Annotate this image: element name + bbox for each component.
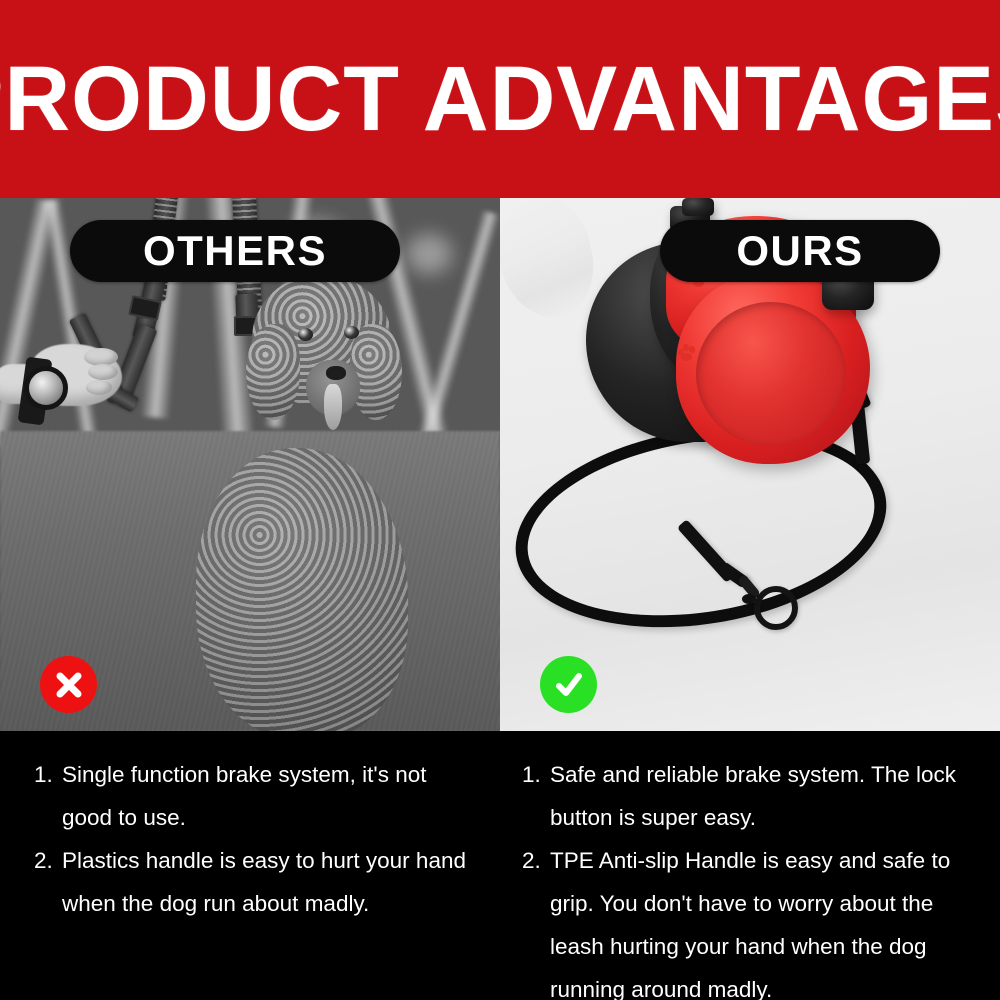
list-item: 1. Single function brake system, it's no… (34, 753, 482, 839)
panel-others: OTHERS (0, 198, 500, 731)
list-item: 2. TPE Anti-slip Handle is easy and safe… (522, 839, 986, 1000)
others-text-column: 1. Single function brake system, it's no… (0, 731, 500, 1000)
cross-icon (40, 656, 97, 713)
ours-text-column: 1. Safe and reliable brake system. The l… (500, 731, 1000, 1000)
badge-ours-label: OURS (736, 230, 863, 272)
list-item-text: TPE Anti-slip Handle is easy and safe to… (550, 839, 986, 1000)
dog-eye (344, 326, 359, 339)
list-item-text: Plastics handle is easy to hurt your han… (62, 839, 482, 925)
snap-hook-icon (754, 586, 798, 630)
check-icon (540, 656, 597, 713)
handle-opening (500, 198, 605, 327)
badge-others: OTHERS (70, 220, 400, 282)
brake-button (682, 198, 714, 216)
dog-ear (350, 324, 402, 420)
list-item-number: 1. (522, 753, 550, 796)
snap-hook-latch (742, 594, 756, 604)
list-item-number: 2. (522, 839, 550, 882)
list-item: 1. Safe and reliable brake system. The l… (522, 753, 986, 839)
bottom-text-area: 1. Single function brake system, it's no… (0, 731, 1000, 1000)
dog-eye (298, 328, 313, 341)
list-item: 2. Plastics handle is easy to hurt your … (34, 839, 482, 925)
ours-bullet-list: 1. Safe and reliable brake system. The l… (522, 753, 986, 1000)
list-item-text: Safe and reliable brake system. The lock… (550, 753, 986, 839)
list-item-number: 1. (34, 753, 62, 796)
page-title: PRODUCT ADVANTAGES (0, 53, 1000, 145)
header-banner: PRODUCT ADVANTAGES (0, 0, 1000, 198)
list-item-number: 2. (34, 839, 62, 882)
list-item-text: Single function brake system, it's not g… (62, 753, 482, 839)
dog-ear (246, 324, 300, 420)
product-advantages-infographic: PRODUCT ADVANTAGES (0, 0, 1000, 1000)
watch-face (24, 366, 68, 410)
badge-ours: OURS (660, 220, 940, 282)
finger (86, 380, 112, 395)
background-bokeh (406, 234, 452, 274)
paw-print-icon (678, 344, 695, 359)
panel-ours: OURS (500, 198, 1000, 731)
housing-reel-cap (696, 302, 846, 446)
dog-nose (326, 366, 346, 380)
badge-others-label: OTHERS (143, 230, 327, 272)
dog-tongue (324, 384, 342, 430)
comparison-panels: OTHERS (0, 198, 1000, 731)
finger (88, 364, 118, 380)
others-bullet-list: 1. Single function brake system, it's no… (34, 753, 482, 925)
